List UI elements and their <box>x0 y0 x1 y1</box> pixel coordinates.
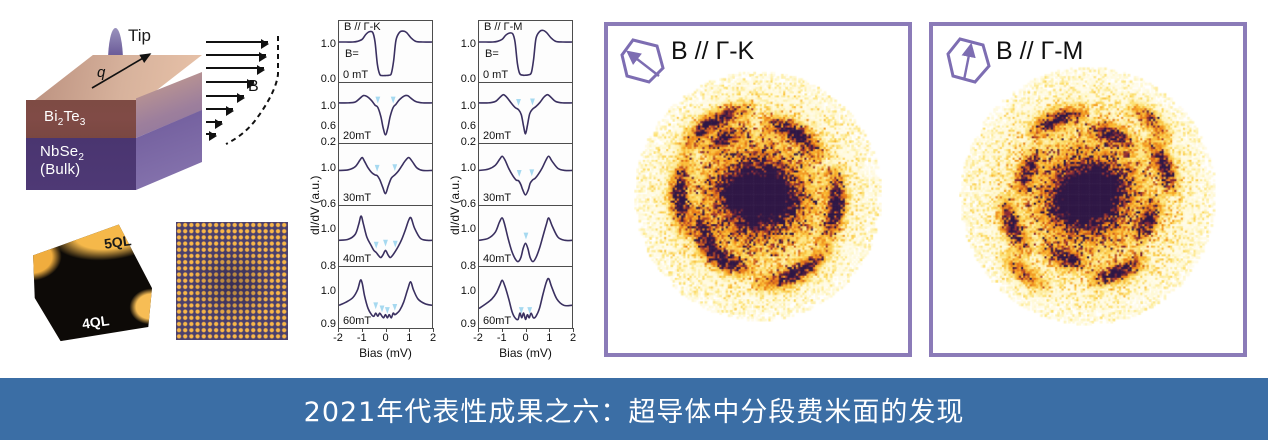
layer-label-bi2te3: Bi2Te3 <box>44 108 86 128</box>
field-label: 30mT <box>343 192 371 204</box>
q-label: q <box>97 64 105 81</box>
x-tick: -1 <box>357 332 367 344</box>
schematic-panel: Tip Bi2Te3 NbSe2 (Bulk) q B <box>0 0 300 370</box>
spectra-cell: 60mT <box>479 267 572 329</box>
field-label: 30mT <box>483 192 511 204</box>
spectra-x-axis: -2 -1 0 1 2 Bias (mV) <box>338 328 433 368</box>
x-tick: 0 <box>522 332 528 344</box>
spectra-column-gamma-m: dI/dV (a.u.) 1.0 0.0 1.0 0.6 0.2 1.0 0.6… <box>450 20 575 365</box>
spectra-cell: 30mT <box>339 144 432 206</box>
spectra-cell: 40mT <box>339 206 432 268</box>
field-label: 20mT <box>483 130 511 142</box>
y-tick: 1.0 <box>321 162 336 174</box>
x-tick: 1 <box>546 332 552 344</box>
y-tick: 0.2 <box>321 136 336 148</box>
spectra-stack: B // Γ-M B= 0 mT 20mT 30mT 40mT 60mT <box>478 20 573 328</box>
caption-bar: 2021年代表性成果之六：超导体中分段费米面的发现 <box>0 378 1268 440</box>
y-tick: 0.8 <box>461 260 476 272</box>
qpi-title-gamma-m: B // Γ-M <box>996 37 1083 66</box>
x-axis-title: Bias (mV) <box>359 346 412 360</box>
stm-atomic-resolution-image <box>176 222 288 340</box>
y-tick: 1.0 <box>321 223 336 235</box>
field-label: 0 mT <box>483 69 508 81</box>
y-tick: 1.0 <box>461 223 476 235</box>
y-tick: 1.0 <box>321 285 336 297</box>
qpi-panel-gamma-m: B // Γ-M <box>929 22 1247 357</box>
b-field-label: B <box>248 78 259 96</box>
stm-topography-step-image: 5QL 4QL <box>30 222 158 342</box>
caption-text: 2021年代表性成果之六：超导体中分段费米面的发现 <box>304 390 965 429</box>
direction-label: B // Γ-K <box>344 21 381 33</box>
field-label: 60mT <box>343 315 371 327</box>
field-label: 40mT <box>343 253 371 265</box>
b-equals-label: B= <box>485 48 499 60</box>
spectra-x-axis: -2 -1 0 1 2 Bias (mV) <box>478 328 573 368</box>
figure-root: Tip Bi2Te3 NbSe2 (Bulk) q B <box>0 0 1268 440</box>
x-tick: -2 <box>473 332 483 344</box>
y-tick: 0.2 <box>461 136 476 148</box>
y-tick: 1.0 <box>321 38 336 50</box>
y-tick: 1.0 <box>461 162 476 174</box>
y-tick: 0.6 <box>321 120 336 132</box>
spectra-cell: B // Γ-K B= 0 mT <box>339 21 432 83</box>
y-tick: 0.6 <box>461 120 476 132</box>
y-tick: 0.6 <box>461 198 476 210</box>
field-label: 0 mT <box>343 69 368 81</box>
y-tick: 0.0 <box>321 73 336 85</box>
y-tick: 0.9 <box>461 318 476 330</box>
spectra-cell: 60mT <box>339 267 432 329</box>
x-axis-title: Bias (mV) <box>499 346 552 360</box>
b-equals-label: B= <box>345 48 359 60</box>
direction-label: B // Γ-M <box>484 21 522 33</box>
x-tick: 1 <box>406 332 412 344</box>
y-tick: 1.0 <box>461 100 476 112</box>
x-tick: -2 <box>333 332 343 344</box>
qpi-panel-gamma-k: B // Γ-K <box>604 22 912 357</box>
qpi-title-gamma-k: B // Γ-K <box>671 37 754 66</box>
x-tick: 2 <box>570 332 576 344</box>
spectra-stack: B // Γ-K B= 0 mT 20mT 30mT 40mT 60mT <box>338 20 433 328</box>
q-vector-arrow-icon <box>84 48 164 92</box>
x-tick: 0 <box>382 332 388 344</box>
layer-label-nbse2: NbSe2 <box>40 143 84 163</box>
layer-label-bulk: (Bulk) <box>40 161 80 178</box>
spectra-cell: B // Γ-M B= 0 mT <box>479 21 572 83</box>
y-tick: 1.0 <box>321 100 336 112</box>
x-tick: 2 <box>430 332 436 344</box>
y-tick: 0.0 <box>461 73 476 85</box>
spectra-column-gamma-k: dI/dV (a.u.) 1.0 0.0 1.0 0.6 0.2 1.0 0.6… <box>310 20 435 365</box>
hexagon-bz-gamma-m-icon <box>944 36 996 86</box>
field-label: 60mT <box>483 315 511 327</box>
y-tick: 0.6 <box>321 198 336 210</box>
spectra-cell: 40mT <box>479 206 572 268</box>
y-tick: 1.0 <box>461 38 476 50</box>
field-label: 20mT <box>343 130 371 142</box>
tip-label: Tip <box>128 26 151 46</box>
spectra-cell: 20mT <box>479 83 572 145</box>
hexagon-bz-gamma-k-icon <box>619 36 671 86</box>
spectra-cell: 30mT <box>479 144 572 206</box>
y-tick: 0.9 <box>321 318 336 330</box>
y-tick: 1.0 <box>461 285 476 297</box>
spectra-cell: 20mT <box>339 83 432 145</box>
field-label: 40mT <box>483 253 511 265</box>
y-tick: 0.8 <box>321 260 336 272</box>
spectra-y-tick-group: 1.0 0.0 1.0 0.6 0.2 1.0 0.6 1.0 0.8 1.0 … <box>310 20 336 328</box>
spectra-y-tick-group: 1.0 0.0 1.0 0.6 0.2 1.0 0.6 1.0 0.8 1.0 … <box>450 20 476 328</box>
x-tick: -1 <box>497 332 507 344</box>
